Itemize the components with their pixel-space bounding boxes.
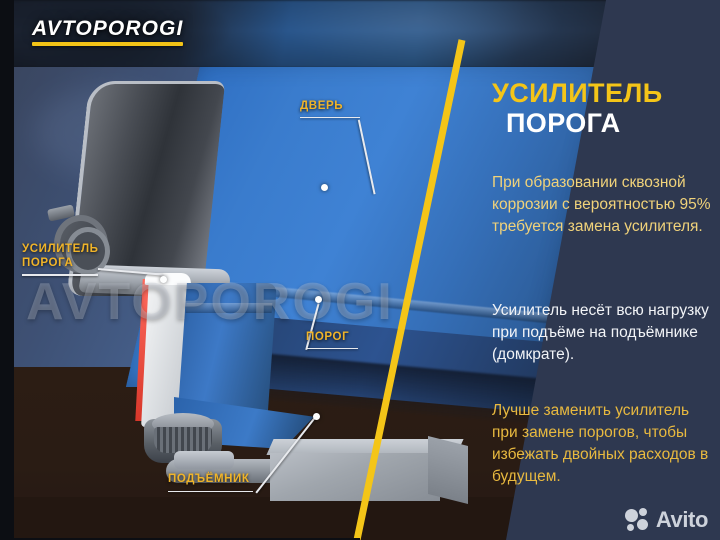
callout-reinforcer-point <box>160 276 167 283</box>
callout-sill-label: ПОРОГ <box>306 331 358 345</box>
page-title: УСИЛИТЕЛЬ ПОРОГА <box>492 78 717 138</box>
callout-sill-point <box>315 296 322 303</box>
paragraph-load: Усилитель несёт всю нагрузку при подъёме… <box>492 300 717 366</box>
callout-door-underline <box>300 117 360 119</box>
avito-wordmark: Avito <box>656 509 708 531</box>
callout-door: ДВЕРЬ <box>300 100 360 118</box>
callout-sill-underline <box>306 348 358 350</box>
avito-watermark: Avito <box>625 508 708 532</box>
callout-lift-underline <box>168 491 253 493</box>
callout-reinforcer: УСИЛИТЕЛЬ ПОРОГА <box>22 243 99 276</box>
page-title-line2: ПОРОГА <box>492 108 717 138</box>
callout-lift-point <box>313 413 320 420</box>
lift-block <box>270 453 440 501</box>
callout-reinforcer-label: УСИЛИТЕЛЬ ПОРОГА <box>22 243 99 270</box>
frame-left-edge <box>0 0 14 540</box>
listing-image: AVTOPOROGI ДВЕРЬ УСИЛИТЕЛЬ ПОРОГА ПОРОГ … <box>0 0 720 540</box>
paragraph-corrosion: При образовании сквозной коррозии с веро… <box>492 172 717 238</box>
sill-reinforcer-top-edge <box>145 273 192 285</box>
callout-lift-label: ПОДЪЁМНИК <box>168 473 253 487</box>
brand-logo-text: AVTOPOROGI <box>32 18 183 39</box>
sill-fold-line <box>186 303 273 313</box>
lift-arm-upper <box>174 451 234 469</box>
callout-door-label: ДВЕРЬ <box>300 100 360 114</box>
page-title-line1: УСИЛИТЕЛЬ <box>492 78 717 108</box>
brand-logo: AVTOPOROGI <box>32 18 183 46</box>
callout-reinforcer-underline <box>22 274 98 276</box>
paragraph-advice: Лучше заменить усилитель при замене поро… <box>492 400 717 488</box>
callout-lift: ПОДЪЁМНИК <box>168 473 253 492</box>
avito-logo-icon <box>625 508 651 532</box>
callout-sill: ПОРОГ <box>306 331 358 349</box>
callout-door-point <box>321 184 328 191</box>
text-panel: УСИЛИТЕЛЬ ПОРОГА При образовании сквозно… <box>430 0 720 540</box>
jack-pad-grooves <box>154 427 212 453</box>
brand-logo-underline <box>32 42 183 46</box>
